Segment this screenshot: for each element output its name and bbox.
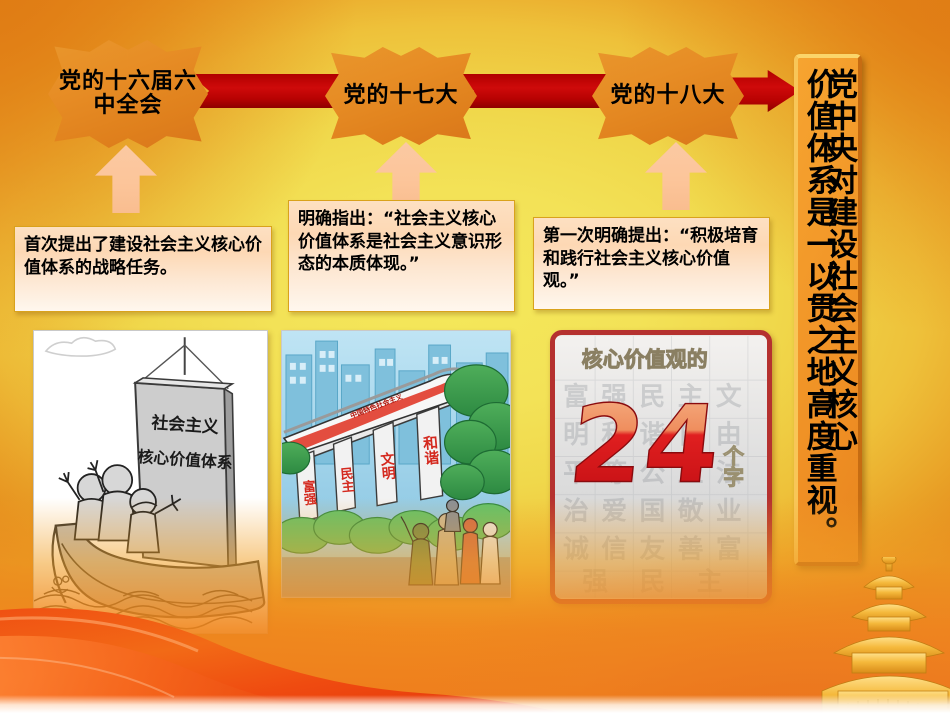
callout-box-3[interactable]: 第一次明确提出：“积极培育和践行社会主义核心价值观。”: [533, 217, 770, 310]
svg-text:核心价值观的: 核心价值观的: [582, 348, 708, 372]
callout-box-2[interactable]: 明确指出：“社会主义核心价值体系是社会主义意识形态的本质体现。”: [288, 200, 515, 312]
slide-canvas: 党的十六届六中全会 党的十七大 党的十八大 首次提出了建设社会主义核心价值体系的…: [0, 0, 950, 713]
svg-text:富: 富: [716, 534, 742, 565]
svg-text:24: 24: [564, 383, 726, 508]
up-arrow-icon-3: [645, 142, 707, 210]
bottom-white-strip: [0, 695, 950, 713]
svg-text:善: 善: [678, 534, 704, 565]
svg-text:富强: 富强: [299, 479, 317, 508]
image-train[interactable]: 富强 民主 文明 和谐 中国特色社会主义: [281, 330, 511, 598]
svg-text:民主: 民主: [337, 466, 355, 493]
svg-text:友: 友: [640, 535, 666, 565]
side-summary-panel[interactable]: 党中央对建设社会主义核心 价值体系是一以贯之地高度重视。: [794, 54, 862, 566]
timeline-node-1[interactable]: 党的十六届六中全会: [48, 40, 208, 148]
svg-text:诚: 诚: [563, 535, 589, 565]
svg-text:信: 信: [601, 535, 627, 565]
image-boat-artwork: 社会主义 核心价值体系: [34, 331, 267, 633]
image-train-artwork: 富强 民主 文明 和谐 中国特色社会主义: [282, 331, 510, 597]
timeline-node-2-label: 党的十七大: [339, 84, 462, 108]
image-24[interactable]: 富强民 主文 明和谐 自由 平等公 正法 治爱国 敬业 诚信友 善富 强民主 核…: [550, 330, 772, 604]
timeline-node-1-label: 党的十六届六中全会: [48, 70, 208, 118]
image-24-artwork: 富强民 主文 明和谐 自由 平等公 正法 治爱国 敬业 诚信友 善富 强民主 核…: [555, 335, 767, 599]
up-arrow-icon-1: [95, 145, 157, 213]
timeline-connector-1: [190, 74, 350, 108]
svg-text:业: 业: [716, 497, 742, 527]
timeline-node-2[interactable]: 党的十七大: [325, 47, 477, 145]
svg-text:个字: 个字: [721, 445, 745, 487]
side-panel-column-left: 价值体系是一以贯之地高度重视。: [802, 58, 834, 562]
timeline-connector-2: [455, 74, 615, 108]
timeline-node-3[interactable]: 党的十八大: [592, 47, 744, 145]
timeline-node-3-label: 党的十八大: [606, 84, 729, 108]
callout-box-1[interactable]: 首次提出了建设社会主义核心价值体系的战略任务。: [14, 226, 272, 312]
svg-text:和谐: 和谐: [420, 435, 441, 467]
svg-text:民: 民: [640, 567, 666, 597]
image-boat[interactable]: 社会主义 核心价值体系: [33, 330, 268, 634]
